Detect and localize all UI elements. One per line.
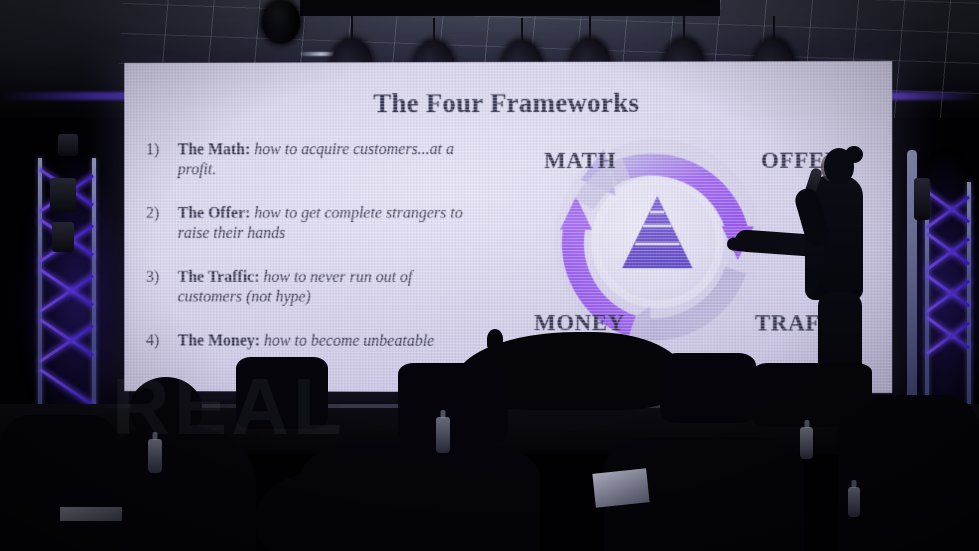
moving-head-light-left xyxy=(50,178,76,212)
light-fixture-right xyxy=(914,178,930,220)
truss-brace xyxy=(926,232,970,265)
bullet-bold: The Traffic: xyxy=(178,269,260,286)
truss-brace xyxy=(926,322,970,355)
audience-seat-back xyxy=(236,357,328,429)
truss-brace xyxy=(39,268,94,306)
list-item: 1) The Math: how to acquire customers...… xyxy=(146,140,474,180)
bullet-number: 2) xyxy=(146,204,178,244)
truss-brace xyxy=(926,196,970,229)
truss-brace xyxy=(926,190,970,223)
slide-bullet-list: 1) The Math: how to acquire customers...… xyxy=(146,140,474,376)
truss-brace xyxy=(926,238,970,271)
bullet-number: 1) xyxy=(146,140,178,180)
audience-seat-back xyxy=(660,353,756,423)
list-item: 2) The Offer: how to get complete strang… xyxy=(146,204,474,244)
bullet-bold: The Offer: xyxy=(178,205,251,222)
bullet-text: The Offer: how to get complete strangers… xyxy=(178,204,474,244)
paper-sheet xyxy=(592,468,649,507)
bullet-bold: The Money: xyxy=(178,332,260,349)
list-item: 3) The Traffic: how to never run out of … xyxy=(146,268,474,308)
stage-light-fixture xyxy=(262,0,300,44)
slide-title: The Four Frameworks xyxy=(124,87,892,119)
speaker-hair-bun xyxy=(845,146,863,163)
bullet-text: The Traffic: how to never run out of cus… xyxy=(178,268,474,308)
bullet-number: 4) xyxy=(146,331,178,351)
truss-brace xyxy=(39,274,94,312)
audience-foreground xyxy=(0,355,979,551)
speaker-pointing-hand xyxy=(726,237,749,252)
list-item: 4) The Money: how to become unbeatable xyxy=(146,331,474,352)
stage-scene: The Four Frameworks 1) The Math: how to … xyxy=(0,0,979,551)
bullet-text: The Money: how to become unbeatable xyxy=(178,331,435,351)
bullet-text: The Math: how to acquire customers...at … xyxy=(178,140,474,180)
audience-seat-back xyxy=(398,363,508,443)
water-bottle xyxy=(148,439,162,473)
water-bottle xyxy=(800,427,813,459)
ceiling-truss-bar xyxy=(300,0,720,16)
truss-brace xyxy=(926,274,970,307)
cycle-label-math: MATH xyxy=(544,148,616,174)
bullet-bold: The Math: xyxy=(178,141,251,158)
audience-body xyxy=(0,415,120,551)
audience-body xyxy=(838,395,979,551)
truss-brace xyxy=(39,318,94,356)
truss-brace xyxy=(926,316,970,349)
bullet-italic: how to become unbeatable xyxy=(264,333,434,350)
table-surface xyxy=(60,507,122,521)
rhino-ear xyxy=(487,329,503,349)
truss-clamp-left xyxy=(58,134,78,156)
water-bottle xyxy=(436,417,450,453)
moving-head-light-left xyxy=(52,222,74,252)
audience-head xyxy=(654,451,724,507)
truss-brace xyxy=(926,280,970,313)
audience-shoulders xyxy=(96,425,256,551)
water-bottle xyxy=(848,487,860,517)
bullet-number: 3) xyxy=(146,268,178,308)
